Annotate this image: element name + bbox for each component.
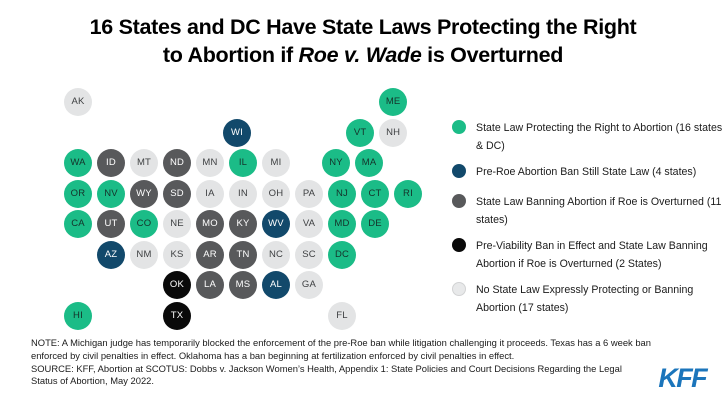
state-tile-ia[interactable]: IA [196, 180, 224, 208]
footer-note: NOTE: A Michigan judge has temporarily b… [31, 337, 651, 363]
state-tile-ny[interactable]: NY [322, 149, 350, 177]
state-tile-sd[interactable]: SD [163, 180, 191, 208]
state-tile-tn[interactable]: TN [229, 241, 257, 269]
legend-item-label: No State Law Expressly Protecting or Ban… [476, 284, 693, 314]
state-tile-label: NV [104, 189, 118, 199]
legend-swatch-black-icon [452, 238, 466, 252]
state-tile-de[interactable]: DE [361, 210, 389, 238]
state-tile-label: NJ [336, 189, 348, 199]
state-tile-wy[interactable]: WY [130, 180, 158, 208]
state-tile-label: ME [386, 97, 401, 107]
legend-swatch-light-icon [452, 282, 466, 296]
state-tile-label: TN [236, 250, 249, 260]
state-tile-nc[interactable]: NC [262, 241, 290, 269]
state-tile-il[interactable]: IL [229, 149, 257, 177]
footer-source: SOURCE: KFF, Abortion at SCOTUS: Dobbs v… [31, 363, 651, 389]
state-tile-nv[interactable]: NV [97, 180, 125, 208]
state-tile-label: NY [329, 158, 343, 168]
legend-item-label: State Law Banning Abortion if Roe is Ove… [476, 196, 721, 226]
state-tile-va[interactable]: VA [295, 210, 323, 238]
state-tile-label: MT [137, 158, 151, 168]
state-tile-label: VA [303, 219, 315, 229]
state-tile-label: MS [236, 280, 251, 290]
state-tile-oh[interactable]: OH [262, 180, 290, 208]
state-tile-label: OH [269, 189, 284, 199]
state-tile-nm[interactable]: NM [130, 241, 158, 269]
kff-logo: KFF [658, 363, 706, 394]
state-tile-tx[interactable]: TX [163, 302, 191, 330]
state-tile-ca[interactable]: CA [64, 210, 92, 238]
legend-item-gray[interactable]: State Law Banning Abortion if Roe is Ove… [452, 192, 724, 228]
state-tile-label: DE [368, 219, 382, 229]
legend-item-label: Pre-Viability Ban in Effect and State La… [476, 240, 708, 270]
state-tile-label: WA [70, 158, 85, 168]
legend-swatch-blue-icon [452, 164, 466, 178]
state-tile-ms[interactable]: MS [229, 271, 257, 299]
state-tile-id[interactable]: ID [97, 149, 125, 177]
state-tile-nd[interactable]: ND [163, 149, 191, 177]
tile-grid-map: AKMEWIVTNHWAIDMTNDMNILMINYMAORNVWYSDIAIN… [0, 0, 450, 335]
state-tile-ri[interactable]: RI [394, 180, 422, 208]
legend-swatch-green-icon [452, 120, 466, 134]
state-tile-label: IN [238, 189, 248, 199]
state-tile-label: AK [71, 97, 84, 107]
state-tile-wa[interactable]: WA [64, 149, 92, 177]
legend: State Law Protecting the Right to Aborti… [452, 118, 724, 324]
state-tile-ne[interactable]: NE [163, 210, 191, 238]
state-tile-in[interactable]: IN [229, 180, 257, 208]
state-tile-label: FL [336, 311, 348, 321]
legend-item-green[interactable]: State Law Protecting the Right to Aborti… [452, 118, 724, 154]
state-tile-label: NC [269, 250, 283, 260]
state-tile-label: KY [236, 219, 249, 229]
state-tile-ky[interactable]: KY [229, 210, 257, 238]
state-tile-label: IL [239, 158, 247, 168]
state-tile-label: PA [303, 189, 315, 199]
state-tile-dc[interactable]: DC [328, 241, 356, 269]
state-tile-label: SD [170, 189, 184, 199]
state-tile-label: AZ [105, 250, 118, 260]
state-tile-al[interactable]: AL [262, 271, 290, 299]
state-tile-label: GA [302, 280, 316, 290]
state-tile-label: LA [204, 280, 216, 290]
state-tile-md[interactable]: MD [328, 210, 356, 238]
state-tile-label: CT [368, 189, 381, 199]
state-tile-mi[interactable]: MI [262, 149, 290, 177]
state-tile-label: NH [386, 128, 400, 138]
state-tile-la[interactable]: LA [196, 271, 224, 299]
state-tile-label: OR [71, 189, 86, 199]
state-tile-nj[interactable]: NJ [328, 180, 356, 208]
state-tile-wi[interactable]: WI [223, 119, 251, 147]
state-tile-label: WY [136, 189, 152, 199]
state-tile-or[interactable]: OR [64, 180, 92, 208]
state-tile-ok[interactable]: OK [163, 271, 191, 299]
state-tile-label: NM [136, 250, 151, 260]
state-tile-az[interactable]: AZ [97, 241, 125, 269]
state-tile-label: MO [202, 219, 218, 229]
state-tile-label: NE [170, 219, 184, 229]
state-tile-label: MA [362, 158, 377, 168]
state-tile-label: MI [271, 158, 282, 168]
legend-item-label: Pre-Roe Abortion Ban Still State Law (4 … [476, 166, 696, 178]
state-tile-ma[interactable]: MA [355, 149, 383, 177]
state-tile-me[interactable]: ME [379, 88, 407, 116]
state-tile-label: MD [334, 219, 349, 229]
state-tile-label: SC [302, 250, 316, 260]
state-tile-sc[interactable]: SC [295, 241, 323, 269]
state-tile-pa[interactable]: PA [295, 180, 323, 208]
state-tile-ar[interactable]: AR [196, 241, 224, 269]
state-tile-wv[interactable]: WV [262, 210, 290, 238]
state-tile-label: KS [170, 250, 183, 260]
state-tile-label: RI [403, 189, 413, 199]
state-tile-ct[interactable]: CT [361, 180, 389, 208]
infographic-page: 16 States and DC Have State Laws Protect… [0, 0, 726, 410]
state-tile-label: OK [170, 280, 184, 290]
state-tile-label: UT [104, 219, 117, 229]
state-tile-label: MN [202, 158, 217, 168]
state-tile-fl[interactable]: FL [328, 302, 356, 330]
state-tile-nh[interactable]: NH [379, 119, 407, 147]
state-tile-label: TX [171, 311, 184, 321]
state-tile-ak[interactable]: AK [64, 88, 92, 116]
state-tile-vt[interactable]: VT [346, 119, 374, 147]
state-tile-label: ID [106, 158, 116, 168]
legend-item-blue[interactable]: Pre-Roe Abortion Ban Still State Law (4 … [452, 162, 724, 184]
state-tile-label: IA [205, 189, 214, 199]
state-tile-ga[interactable]: GA [295, 271, 323, 299]
state-tile-mo[interactable]: MO [196, 210, 224, 238]
state-tile-hi[interactable]: HI [64, 302, 92, 330]
legend-item-light[interactable]: No State Law Expressly Protecting or Ban… [452, 280, 724, 316]
state-tile-label: ND [170, 158, 184, 168]
legend-swatch-gray-icon [452, 194, 466, 208]
state-tile-co[interactable]: CO [130, 210, 158, 238]
state-tile-label: VT [354, 128, 367, 138]
state-tile-label: CA [71, 219, 85, 229]
state-tile-label: HI [73, 311, 83, 321]
footer: NOTE: A Michigan judge has temporarily b… [31, 337, 651, 388]
legend-item-label: State Law Protecting the Right to Aborti… [476, 122, 722, 152]
state-tile-label: AR [203, 250, 217, 260]
state-tile-label: WV [268, 219, 284, 229]
state-tile-label: WI [231, 128, 243, 138]
state-tile-label: AL [270, 280, 282, 290]
state-tile-ut[interactable]: UT [97, 210, 125, 238]
legend-item-black[interactable]: Pre-Viability Ban in Effect and State La… [452, 236, 724, 272]
state-tile-label: CO [137, 219, 152, 229]
state-tile-ks[interactable]: KS [163, 241, 191, 269]
state-tile-label: DC [335, 250, 349, 260]
state-tile-mn[interactable]: MN [196, 149, 224, 177]
state-tile-mt[interactable]: MT [130, 149, 158, 177]
